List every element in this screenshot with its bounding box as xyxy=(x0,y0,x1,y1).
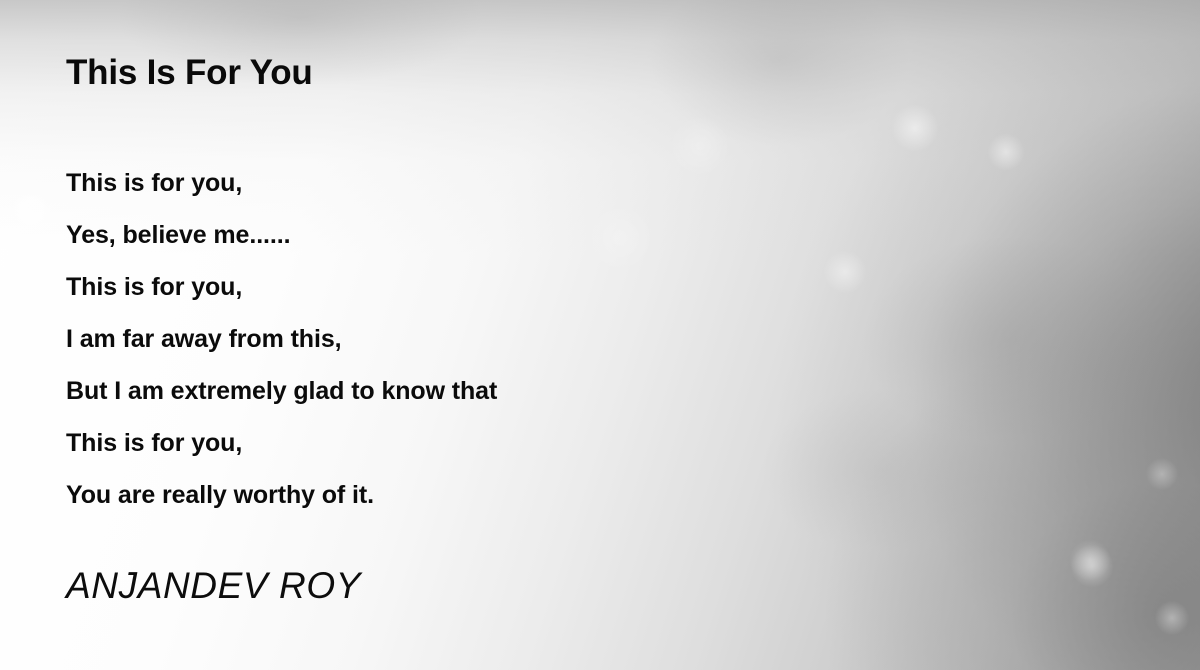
poem-line: I am far away from this, xyxy=(66,313,497,365)
poem-line: You are really worthy of it. xyxy=(66,469,497,521)
poem-body: This is for you, Yes, believe me...... T… xyxy=(66,157,497,521)
poem-line: This is for you, xyxy=(66,157,497,209)
poem-card: This Is For You This is for you, Yes, be… xyxy=(0,0,1200,670)
poem-content: This Is For You This is for you, Yes, be… xyxy=(66,0,1066,670)
poem-line: This is for you, xyxy=(66,261,497,313)
page-title: This Is For You xyxy=(66,53,313,93)
poem-line: This is for you, xyxy=(66,417,497,469)
author-signature: ANJANDEV ROY xyxy=(66,565,361,607)
poem-line: But I am extremely glad to know that xyxy=(66,365,497,417)
poem-line: Yes, believe me...... xyxy=(66,209,497,261)
